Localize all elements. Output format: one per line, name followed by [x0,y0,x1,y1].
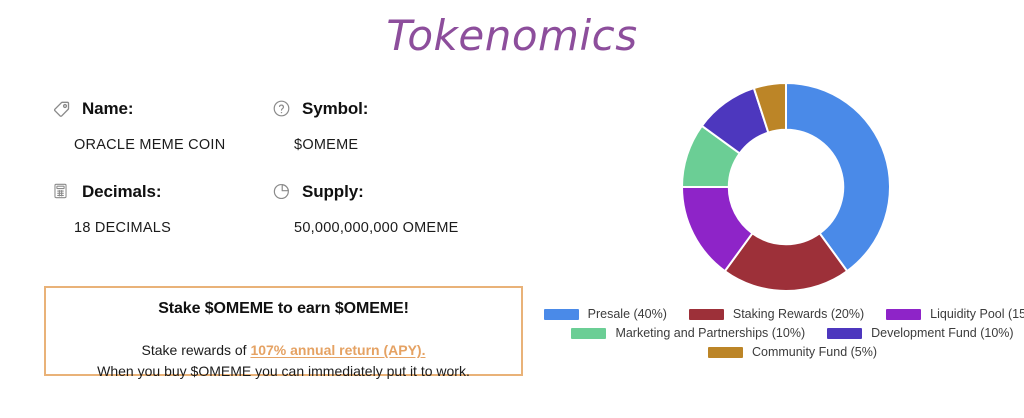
chart-legend-row: Marketing and Partnerships (10%)Developm… [561,326,1024,340]
token-info-name-header: Name: [52,98,270,120]
chart-legend-label: Presale (40%) [588,307,667,321]
chart-legend-label: Marketing and Partnerships (10%) [615,326,805,340]
chart-legend: Presale (40%)Staking Rewards (20%)Liquid… [561,307,1024,364]
token-info-symbol-header: Symbol: [272,98,490,120]
chart-legend-label: Community Fund (5%) [752,345,877,359]
token-info-name-label: Name: [82,99,133,119]
token-info-decimals-value: 18 DECIMALS [74,220,270,236]
chart-legend-swatch [827,328,862,339]
stake-callout-box: Stake $OMEME to earn $OMEME! Stake rewar… [44,286,523,376]
token-info-decimals-header: Decimals: [52,181,270,203]
token-info-row: Name: ORACLE MEME COIN Symbol: $OMEME [52,98,522,153]
chart-legend-item[interactable]: Community Fund (5%) [708,345,877,359]
token-info-symbol-value: $OMEME [294,137,490,153]
token-info-row: Decimals: 18 DECIMALS Supply: 50,000,000… [52,181,522,236]
token-info-name: Name: ORACLE MEME COIN [52,98,270,153]
chart-legend-label: Staking Rewards (20%) [733,307,864,321]
token-info-symbol-label: Symbol: [302,99,368,119]
stake-callout-reward-line: Stake rewards of 107% annual return (APY… [46,342,521,358]
token-info-supply-label: Supply: [302,182,364,202]
token-info-supply: Supply: 50,000,000,000 OMEME [272,181,490,236]
chart-legend-item[interactable]: Marketing and Partnerships (10%) [571,326,805,340]
chart-legend-item[interactable]: Liquidity Pool (15%) [886,307,1024,321]
chart-legend-swatch [708,347,743,358]
calculator-icon [52,182,72,202]
chart-legend-swatch [544,309,579,320]
chart-legend-label: Liquidity Pool (15%) [930,307,1024,321]
token-info-decimals: Decimals: 18 DECIMALS [52,181,270,236]
stake-reward-prefix: Stake rewards of [142,342,251,358]
token-info-supply-value: 50,000,000,000 OMEME [294,220,490,236]
tokenomics-chart: Presale (40%)Staking Rewards (20%)Liquid… [561,82,1024,382]
chart-legend-label: Development Fund (10%) [871,326,1013,340]
question-circle-icon [272,99,292,119]
chart-legend-row: Presale (40%)Staking Rewards (20%)Liquid… [561,307,1024,321]
token-info-decimals-label: Decimals: [82,182,161,202]
stake-callout-subtext: When you buy $OMEME you can immediately … [46,363,521,379]
price-tag-icon [52,99,72,119]
chart-legend-swatch [886,309,921,320]
chart-legend-item[interactable]: Staking Rewards (20%) [689,307,864,321]
chart-legend-swatch [689,309,724,320]
page-title: Tokenomics [0,8,1024,64]
token-info-name-value: ORACLE MEME COIN [74,137,270,153]
token-info-grid: Name: ORACLE MEME COIN Symbol: $OMEME [52,98,522,236]
apy-link[interactable]: 107% annual return (APY). [250,342,425,358]
chart-legend-swatch [571,328,606,339]
token-info-symbol: Symbol: $OMEME [272,98,490,153]
donut-chart [676,82,896,294]
chart-legend-item[interactable]: Development Fund (10%) [827,326,1013,340]
donut-slice-group [682,83,890,291]
donut-chart-svg [676,82,896,294]
chart-legend-item[interactable]: Presale (40%) [544,307,667,321]
chart-legend-row: Community Fund (5%) [561,345,1024,359]
stake-callout-title: Stake $OMEME to earn $OMEME! [46,300,521,318]
token-info-supply-header: Supply: [272,181,490,203]
pie-chart-icon [272,182,292,202]
